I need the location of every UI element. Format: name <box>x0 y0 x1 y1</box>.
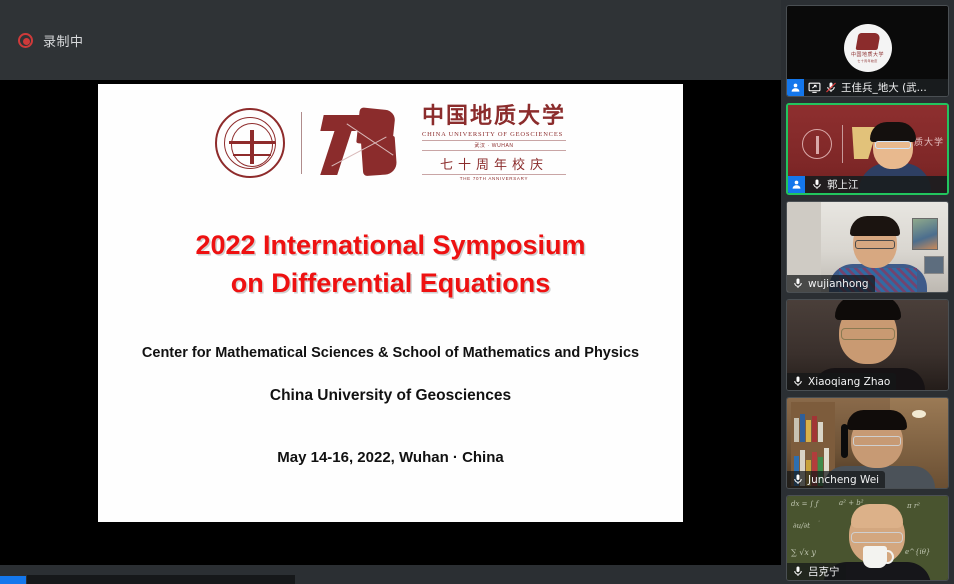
slide-logo-band: 中国地质大学 CHINA UNIVERSITY OF GEOSCIENCES 武… <box>215 106 566 180</box>
participant-name: Juncheng Wei <box>808 474 879 486</box>
participant-tile[interactable]: Juncheng Wei <box>786 397 949 489</box>
participant-name: wujianhong <box>808 278 869 290</box>
recording-indicator[interactable]: 录制中 <box>18 31 84 50</box>
cug-seal-bg-icon <box>802 129 832 159</box>
host-person-icon <box>788 176 805 193</box>
participant-namebar: Xiaoqiang Zhao <box>787 373 896 390</box>
slide-subtitle-line1: Center for Mathematical Sciences & Schoo… <box>142 345 639 361</box>
chalk-formula: ∂u/∂t <box>793 522 810 530</box>
slide-subtitle-line2: China University of Geosciences <box>270 387 511 405</box>
shared-screen-stage[interactable]: 中国地质大学 CHINA UNIVERSITY OF GEOSCIENCES 武… <box>0 80 781 565</box>
mic-on-icon <box>792 277 804 290</box>
university-name-en: CHINA UNIVERSITY OF GEOSCIENCES <box>422 131 566 138</box>
participant-tile[interactable]: 中国地质大学 七十周年校庆 王佳兵_地大 (武... <box>786 5 949 97</box>
participant-name: 郭上江 <box>827 177 859 192</box>
wall-picture <box>924 256 944 274</box>
mic-muted-icon <box>825 81 837 94</box>
chalk-formula: dx = ∫ ƒ <box>791 500 818 508</box>
mic-on-icon <box>792 375 804 388</box>
slide-title: 2022 International Symposium on Differen… <box>195 226 585 303</box>
participant-namebar: wujianhong <box>787 275 875 292</box>
record-dot-icon <box>18 33 33 48</box>
participant-namebar: 王佳兵_地大 (武... <box>787 79 948 96</box>
presentation-slide: 中国地质大学 CHINA UNIVERSITY OF GEOSCIENCES 武… <box>98 84 683 522</box>
participant-tile[interactable]: wujianhong <box>786 201 949 293</box>
meeting-toolbar-edge[interactable] <box>27 575 295 584</box>
mic-on-icon <box>811 178 823 191</box>
campus-sub-label: 武汉 · WUHAN <box>422 140 566 151</box>
slide-title-line2: on Differential Equations <box>195 264 585 302</box>
recording-label: 录制中 <box>43 31 84 50</box>
slide-title-line1: 2022 International Symposium <box>195 226 585 264</box>
participant-tile[interactable]: 中国地质大学 七十周年校庆 郭上江 <box>786 103 949 195</box>
mic-on-icon <box>792 473 804 486</box>
cug-university-seal-icon <box>215 108 285 178</box>
70-anniversary-mark-icon <box>318 107 410 179</box>
participant-name: Xiaoqiang Zhao <box>808 376 890 388</box>
participant-name: 王佳兵_地大 (武... <box>841 80 927 95</box>
participant-namebar: 郭上江 <box>788 176 947 193</box>
participant-filmstrip[interactable]: 中国地质大学 七十周年校庆 王佳兵_地大 (武... 中国地质大学 七十周年校庆 <box>781 0 954 584</box>
avatar-name-cn: 中国地质大学 <box>851 51 884 58</box>
recording-bar: 录制中 <box>0 0 781 80</box>
mic-on-icon <box>792 565 804 578</box>
handheld-device <box>841 424 848 458</box>
coffee-cup <box>863 546 887 568</box>
participant-namebar: Juncheng Wei <box>787 471 885 488</box>
participant-name: 吕克宁 <box>808 564 840 579</box>
host-person-icon <box>787 79 804 96</box>
cug-logo-avatar-icon: 中国地质大学 七十周年校庆 <box>844 24 892 72</box>
participant-tile[interactable]: dx = ∫ ƒ a² + b² ∑ √x y π r² e^{iθ} sin … <box>786 495 949 581</box>
screen-share-icon <box>808 81 821 94</box>
logo-divider <box>301 112 302 174</box>
participant-namebar: 吕克宁 <box>787 563 846 580</box>
anniversary-label-en: THE 70TH ANNIVERSARY <box>422 174 566 181</box>
anniversary-label-cn: 七十周年校庆 <box>422 154 566 173</box>
participant-tile[interactable]: Xiaoqiang Zhao <box>786 299 949 391</box>
toolbar-accent-block[interactable] <box>0 576 26 584</box>
slide-dateline: May 14-16, 2022, Wuhan · China <box>277 449 503 466</box>
bg-divider <box>842 125 843 163</box>
chalk-formula: ∑ √x y <box>791 548 816 557</box>
avatar-anniv-cn: 七十周年校庆 <box>857 59 877 63</box>
university-name-cn: 中国地质大学 <box>422 105 566 129</box>
university-wordmark: 中国地质大学 CHINA UNIVERSITY OF GEOSCIENCES 武… <box>422 105 566 181</box>
